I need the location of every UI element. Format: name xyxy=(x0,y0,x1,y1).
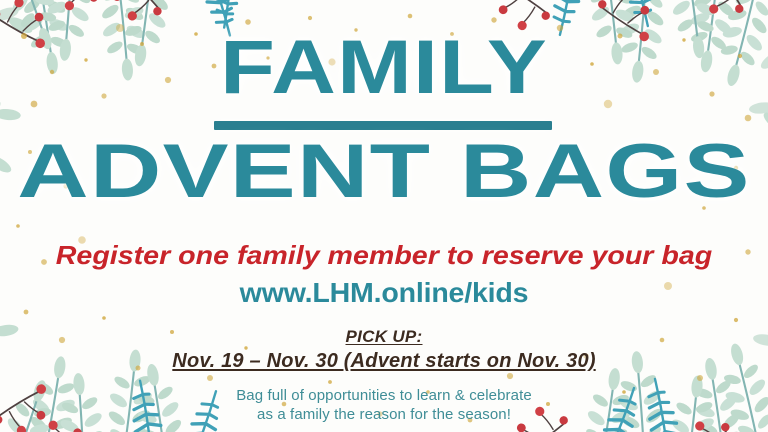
page-title-line-1: FAMILY xyxy=(0,33,768,103)
pickup-dates: Nov. 19 – Nov. 30 (Advent starts on Nov.… xyxy=(0,350,768,373)
page-title-line-2: ADVENT BAGS xyxy=(0,137,768,207)
pickup-block: PICK UP: Nov. 19 – Nov. 30 (Advent start… xyxy=(0,327,768,373)
flyer-canvas: FAMILY ADVENT BAGS Register one family m… xyxy=(0,0,768,432)
pickup-label: PICK UP: xyxy=(345,327,422,346)
tagline-line-1: Bag full of opportunities to learn & cel… xyxy=(0,386,768,405)
register-instruction: Register one family member to reserve yo… xyxy=(0,240,768,271)
registration-url[interactable]: www.LHM.online/kids xyxy=(0,277,768,309)
tagline-line-2: as a family the reason for the season! xyxy=(0,405,768,424)
tagline: Bag full of opportunities to learn & cel… xyxy=(0,386,768,424)
flyer-content: FAMILY ADVENT BAGS Register one family m… xyxy=(0,0,768,432)
